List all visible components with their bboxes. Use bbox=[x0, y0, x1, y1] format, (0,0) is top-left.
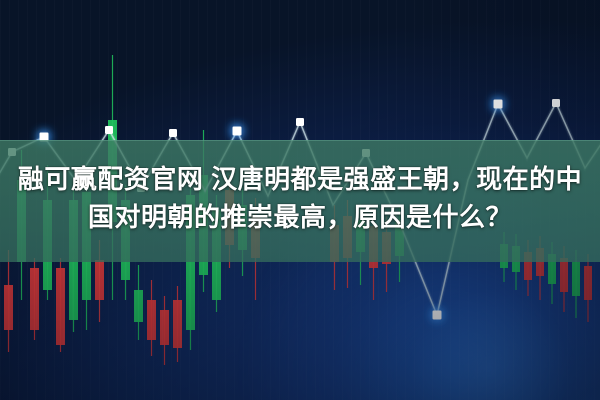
headline-line-1: 融可赢配资官网 汉唐明都是强盛王朝，现在的中 bbox=[18, 164, 582, 194]
headline-text: 融可赢配资官网 汉唐明都是强盛王朝，现在的中 国对明朝的推崇最高，原因是什么？ bbox=[0, 160, 600, 236]
green-band-top-edge bbox=[0, 140, 600, 141]
headline-line-2: 国对明朝的推崇最高，原因是什么？ bbox=[88, 202, 512, 232]
promo-banner: 融可赢配资官网 汉唐明都是强盛王朝，现在的中 国对明朝的推崇最高，原因是什么？ bbox=[0, 0, 600, 400]
